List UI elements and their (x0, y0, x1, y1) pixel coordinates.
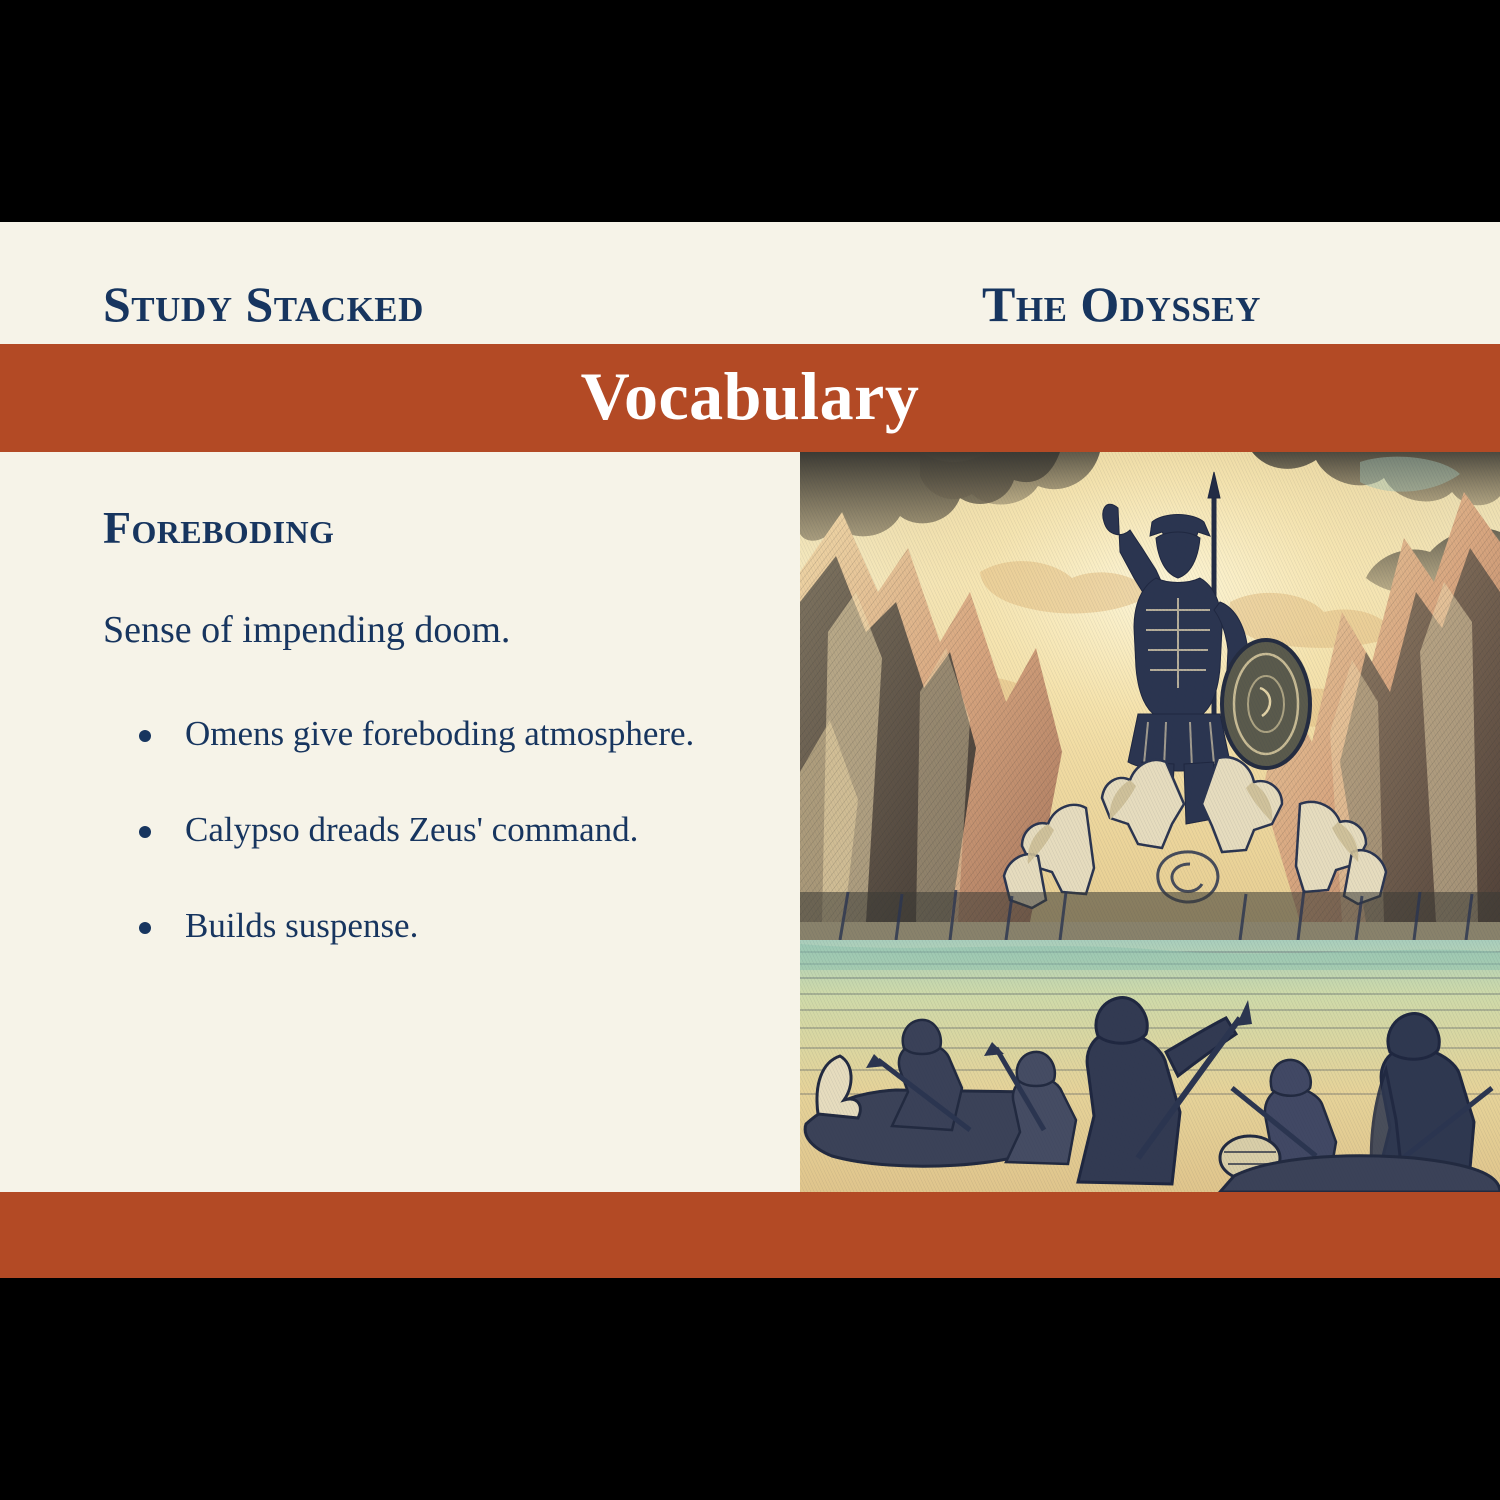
list-item: Calypso dreads Zeus' command. (103, 803, 763, 857)
slide-header: Study Stacked The Odyssey (0, 222, 1500, 344)
greek-god-storm-illustration: 0 (800, 452, 1500, 1192)
text-column: Foreboding Sense of impending doom. Omen… (0, 452, 800, 1192)
slide-content: Foreboding Sense of impending doom. Omen… (0, 452, 1500, 1192)
slide-canvas: Study Stacked The Odyssey Vocabulary For… (0, 222, 1500, 1278)
letterbox-bottom-bar (0, 1278, 1500, 1500)
list-item-label: Builds suspense. (185, 906, 418, 945)
bullet-list: Omens give foreboding atmosphere. Calyps… (103, 707, 763, 953)
bullet-dot-icon (139, 922, 151, 934)
footer-accent-bar (0, 1192, 1500, 1278)
list-item: Omens give foreboding atmosphere. (103, 707, 763, 761)
illustration-artwork: 0 (800, 452, 1500, 1192)
book-title: The Odyssey (982, 276, 1261, 332)
brand-title: Study Stacked (103, 276, 424, 332)
list-item-label: Calypso dreads Zeus' command. (185, 810, 638, 849)
letterbox-top-bar (0, 0, 1500, 222)
section-banner: Vocabulary (0, 344, 1500, 452)
list-item-label: Omens give foreboding atmosphere. (185, 714, 694, 753)
section-title: Vocabulary (0, 344, 1500, 452)
vocabulary-term-heading: Foreboding (103, 502, 334, 554)
list-item: Builds suspense. (103, 899, 763, 953)
bullet-dot-icon (139, 826, 151, 838)
bullet-dot-icon (139, 730, 151, 742)
screenshot-stage: Study Stacked The Odyssey Vocabulary For… (0, 0, 1500, 1500)
vocabulary-term-definition: Sense of impending doom. (103, 607, 743, 653)
